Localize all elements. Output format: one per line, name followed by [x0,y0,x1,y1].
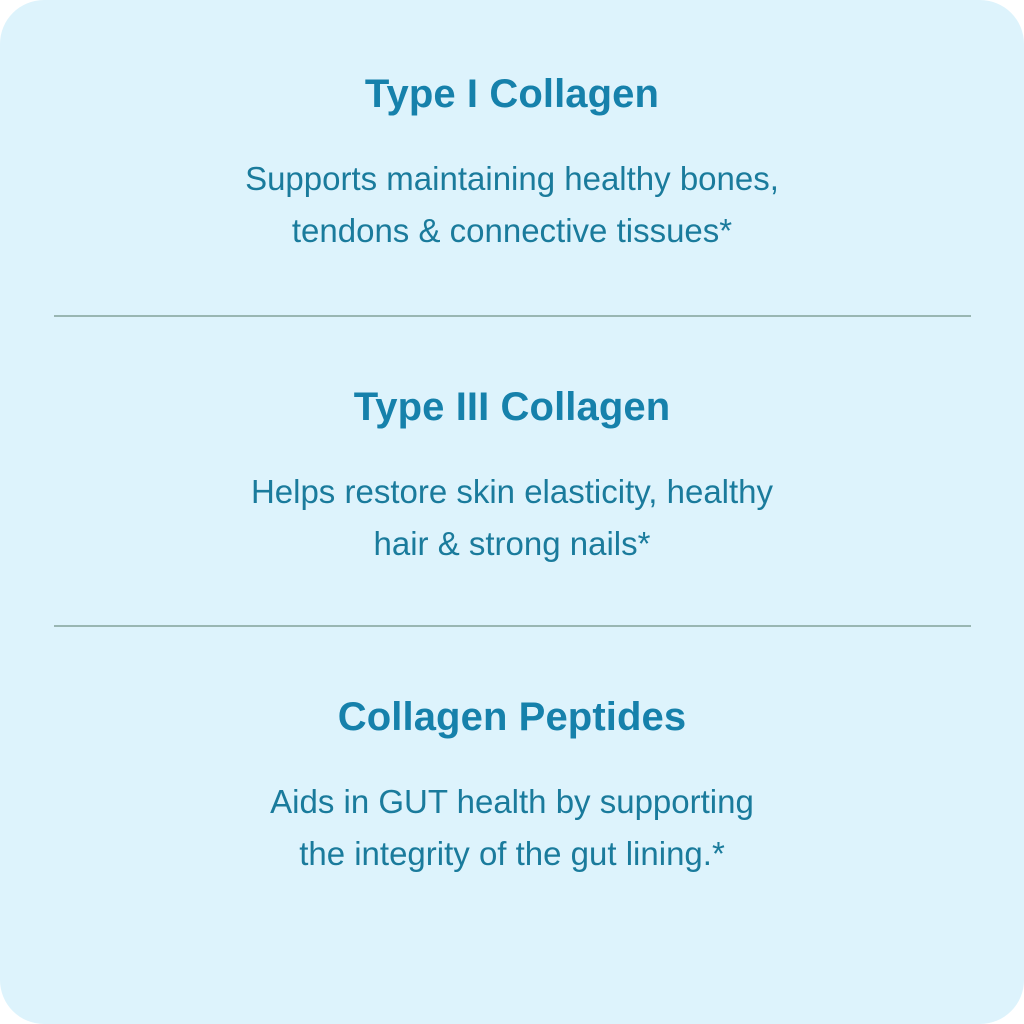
section-divider-2 [54,625,971,627]
benefit-description-line: the integrity of the gut lining.* [270,828,754,880]
benefit-section-type-iii-collagen: Type III Collagen Helps restore skin ela… [0,317,1024,570]
benefit-heading-type-iii-collagen: Type III Collagen [354,385,671,430]
benefit-heading-type-i-collagen: Type I Collagen [365,72,659,117]
benefit-description-line: Aids in GUT health by supporting [270,776,754,828]
benefit-section-type-i-collagen: Type I Collagen Supports maintaining hea… [0,0,1024,257]
benefit-description-collagen-peptides: Aids in GUT health by supporting the int… [270,740,754,880]
benefit-description-line: tendons & connective tissues* [245,205,779,257]
benefit-heading-collagen-peptides: Collagen Peptides [338,695,686,740]
benefit-description-line: hair & strong nails* [251,518,773,570]
benefit-description-line: Helps restore skin elasticity, healthy [251,466,773,518]
section-divider-1 [54,315,971,317]
benefit-description-type-i-collagen: Supports maintaining healthy bones, tend… [245,117,779,257]
collagen-benefits-card: Type I Collagen Supports maintaining hea… [0,0,1024,1024]
benefit-section-collagen-peptides: Collagen Peptides Aids in GUT health by … [0,627,1024,880]
benefit-description-type-iii-collagen: Helps restore skin elasticity, healthy h… [251,430,773,570]
benefit-description-line: Supports maintaining healthy bones, [245,153,779,205]
